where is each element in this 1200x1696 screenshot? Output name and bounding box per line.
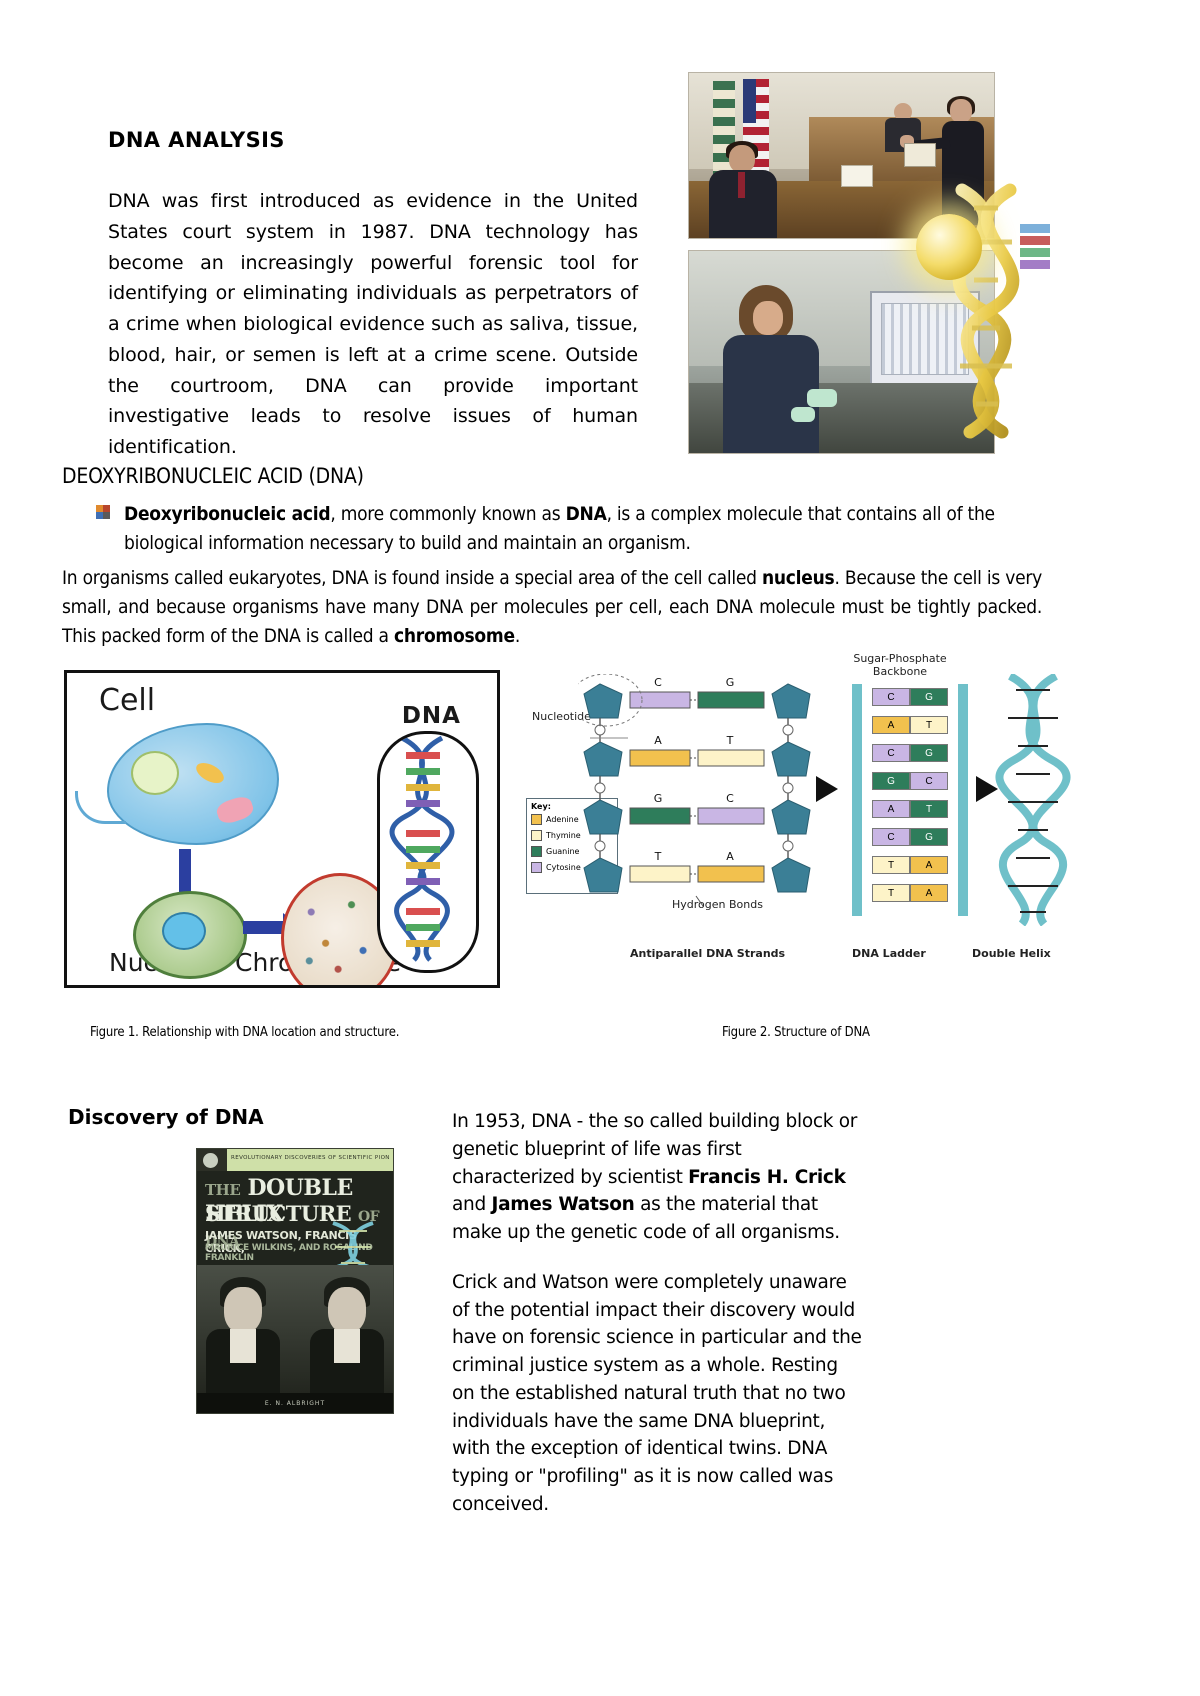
book-footer: E. N. ALBRIGHT — [197, 1393, 393, 1413]
discovery-text-block: In 1953, DNA - the so called building bl… — [452, 1108, 864, 1541]
portrait-watson — [199, 1271, 287, 1393]
term-nucleus: nucleus — [762, 567, 835, 589]
book-kicker: REVOLUTIONARY DISCOVERIES OF SCIENTIFIC … — [231, 1155, 389, 1161]
adenine-swatch — [531, 814, 542, 825]
figure-2-caption: Figure 2. Structure of DNA — [722, 1025, 870, 1040]
book-title-the: THE — [205, 1181, 240, 1199]
seated-person-figure — [705, 145, 781, 239]
book-cover-image: REVOLUTIONARY DISCOVERIES OF SCIENTIFIC … — [196, 1148, 394, 1414]
discovery-paragraph-1: In 1953, DNA - the so called building bl… — [452, 1108, 864, 1247]
figure-1-image: Cell DNA Nucleus Chromosome — [64, 670, 500, 988]
intro-paragraph: DNA was first introduced as evidence in … — [108, 186, 638, 463]
bullet-middle: , more commonly known as — [330, 503, 565, 525]
document-exhibit — [841, 165, 873, 187]
figure1-label-dna: DNA — [402, 703, 461, 729]
page-title: DNA ANALYSIS — [108, 128, 638, 152]
portrait-crick — [303, 1271, 391, 1393]
discovery-paragraph-2: Crick and Watson were completely unaware… — [452, 1269, 864, 1519]
name-francis-crick: Francis H. Crick — [688, 1167, 845, 1188]
svg-text:G: G — [726, 676, 735, 689]
thymine-swatch — [531, 830, 542, 841]
cytosine-swatch — [531, 862, 542, 873]
arrow-right-icon-1 — [243, 921, 285, 934]
dna-capsule-svg — [380, 734, 470, 964]
discovery-heading: Discovery of DNA — [68, 1105, 264, 1129]
cytosine-label: Cytosine — [546, 863, 581, 872]
svg-text:G: G — [654, 792, 663, 805]
adenine-label: Adenine — [546, 815, 579, 824]
svg-text:C: C — [654, 676, 662, 689]
guanine-swatch — [531, 846, 542, 857]
attorney-figure — [936, 99, 988, 227]
figure1-label-cell: Cell — [99, 683, 155, 718]
lab-technician-photo — [688, 250, 995, 454]
intro-block: DNA ANALYSIS DNA was first introduced as… — [108, 128, 638, 463]
photo-collage — [688, 72, 1108, 452]
figure2-caption-helix: Double Helix — [972, 947, 1051, 960]
svg-text:T: T — [654, 850, 662, 863]
svg-text:A: A — [726, 850, 734, 863]
evidence-bag — [904, 143, 936, 167]
figure2-label-sugar-phosphate: Sugar-Phosphate Backbone — [840, 652, 960, 678]
thymine-label: Thymine — [546, 831, 581, 840]
document-page: DNA ANALYSIS DNA was first introduced as… — [0, 0, 1200, 1696]
disc-p1-part2: and — [452, 1194, 492, 1215]
technician-figure — [723, 285, 819, 453]
bullet-text: Deoxyribonucleic acid, more commonly kno… — [124, 500, 1036, 557]
arrow-icon-ladder — [816, 776, 838, 802]
svg-text:T: T — [726, 734, 734, 747]
bullet-lead-term: Deoxyribonucleic acid — [124, 503, 330, 525]
bullet-item: Deoxyribonucleic acid, more commonly kno… — [96, 500, 1036, 557]
pinwheel-bullet-icon — [96, 505, 112, 523]
guanine-label: Guanine — [546, 847, 579, 856]
figure2-caption-ladder: DNA Ladder — [852, 947, 926, 960]
section-heading-dna: DEOXYRIBONUCLEIC ACID (DNA) — [62, 464, 364, 488]
publisher-seal-icon — [203, 1153, 218, 1168]
eukaryote-paragraph: In organisms called eukaryotes, DNA is f… — [62, 564, 1042, 651]
dna-helix-capsule — [377, 731, 479, 973]
courtroom-photo — [688, 72, 995, 239]
nucleus-illustration — [133, 891, 247, 979]
name-james-watson: James Watson — [492, 1194, 635, 1215]
cell-illustration — [107, 723, 279, 845]
antiparallel-strands-svg: CG AT GC TA — [578, 674, 828, 914]
term-chromosome: chromosome — [394, 625, 515, 647]
svg-text:C: C — [726, 792, 734, 805]
para-part1: In organisms called eukaryotes, DNA is f… — [62, 567, 762, 589]
double-helix-svg — [990, 674, 1076, 926]
figure2-caption-antiparallel: Antiparallel DNA Strands — [630, 947, 785, 960]
figure-2-image: Sugar-Phosphate Backbone Nucleotide Hydr… — [520, 648, 1080, 964]
dna-ladder-graphic: CG AT CG GC AT CG TA TA — [852, 684, 968, 916]
book-portrait-photo — [197, 1265, 393, 1393]
para-part3: . — [515, 625, 520, 647]
figure-1-caption: Figure 1. Relationship with DNA location… — [90, 1025, 399, 1040]
bullet-bold-dna: DNA — [566, 503, 607, 525]
svg-text:A: A — [654, 734, 662, 747]
